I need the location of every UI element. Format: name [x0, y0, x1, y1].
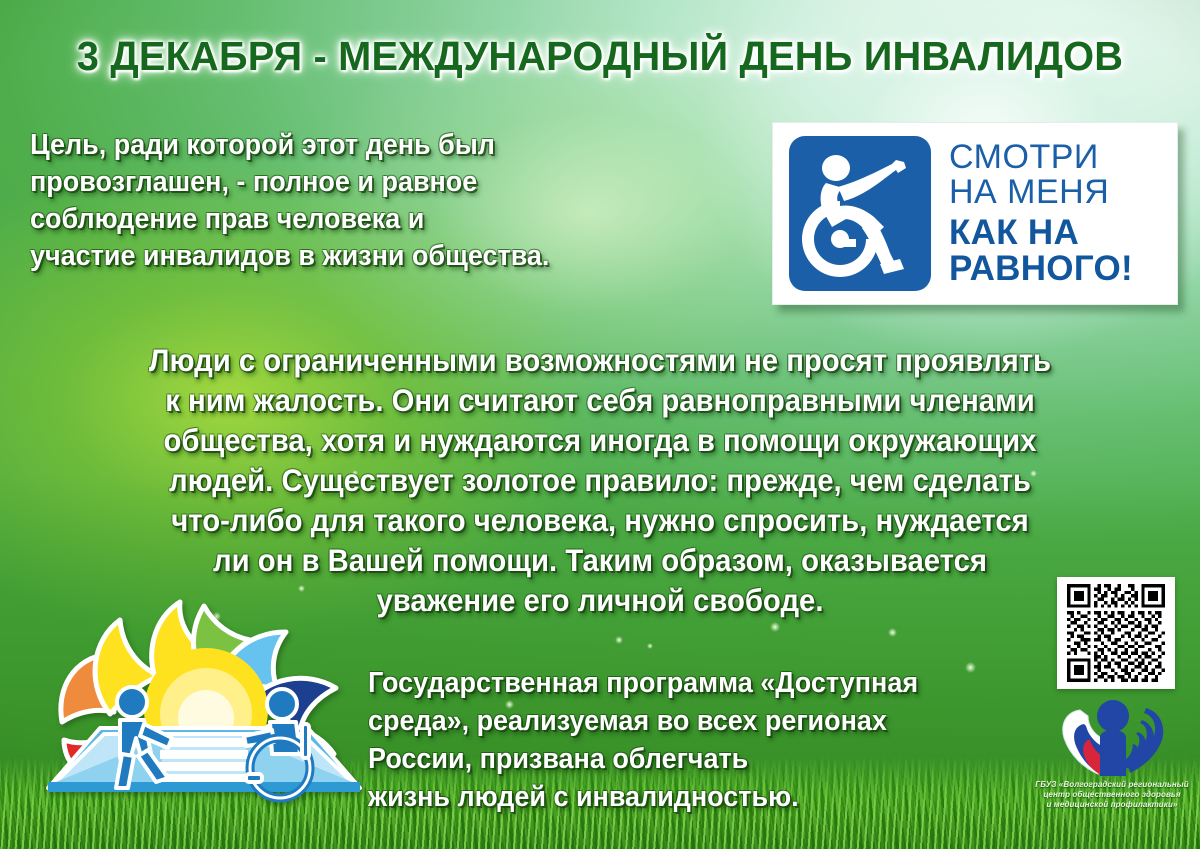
main-line: людей. Существует золотое правило: прежд… — [42, 460, 1158, 500]
organization-caption: ГБУЗ «Волгоградский региональный центр о… — [1032, 780, 1192, 810]
page-title: 3 ДЕКАБРЯ - МЕЖДУНАРОДНЫЙ ДЕНЬ ИНВАЛИДОВ — [18, 32, 1182, 80]
intro-line: Цель, ради которой этот день был — [30, 127, 709, 164]
organization-logo: ГБУЗ «Волгоградский региональный центр о… — [1032, 694, 1192, 834]
badge-line-4: РАВНОГО! — [949, 251, 1167, 287]
intro-line: соблюдение прав человека и — [30, 201, 709, 238]
look-at-me-as-equal-badge: СМОТРИ НА МЕНЯ КАК НА РАВНОГО! — [772, 122, 1178, 305]
program-line: России, призвана облегчать — [368, 740, 1019, 778]
main-line: ли он в Вашей помощи. Таким образом, ока… — [42, 540, 1158, 580]
main-line: Люди с ограниченными возможностями не пр… — [42, 340, 1158, 380]
wheelchair-active-icon — [789, 136, 931, 291]
program-line: среда», реализуемая во всех регионах — [368, 702, 1019, 740]
badge-line-2: НА МЕНЯ — [949, 175, 1167, 210]
badge-line-3: КАК НА — [949, 215, 1167, 251]
organization-caption-line: ГБУЗ «Волгоградский региональный — [1032, 780, 1192, 790]
badge-text-block: СМОТРИ НА МЕНЯ КАК НА РАВНОГО! — [931, 140, 1167, 287]
organization-caption-line: и медицинской профилактики» — [1032, 800, 1192, 810]
main-paragraph: Люди с ограниченными возможностями не пр… — [42, 340, 1158, 620]
main-line: общества, хотя и нуждаются иногда в помо… — [42, 420, 1158, 460]
qr-code[interactable] — [1057, 577, 1175, 689]
poster-root: 3 ДЕКАБРЯ - МЕЖДУНАРОДНЫЙ ДЕНЬ ИНВАЛИДОВ… — [0, 0, 1200, 849]
main-line: к ним жалость. Они считают себя равнопра… — [42, 380, 1158, 420]
intro-line: провозглашен, - полное и равное — [30, 164, 709, 201]
main-line: что-либо для такого человека, нужно спро… — [42, 500, 1158, 540]
program-line: Государственная программа «Доступная — [368, 664, 1019, 702]
intro-paragraph: Цель, ради которой этот день был провозг… — [30, 127, 709, 275]
intro-line: участие инвалидов в жизни общества. — [30, 238, 709, 275]
program-paragraph: Государственная программа «Доступная сре… — [368, 664, 1019, 816]
person-with-raised-arms-emblem — [1044, 694, 1180, 778]
organization-caption-line: центр общественного здоровья — [1032, 790, 1192, 800]
badge-line-1: СМОТРИ — [949, 140, 1167, 175]
program-line: жизнь людей с инвалидностью. — [368, 778, 1019, 816]
accessible-environment-logo — [34, 592, 374, 818]
